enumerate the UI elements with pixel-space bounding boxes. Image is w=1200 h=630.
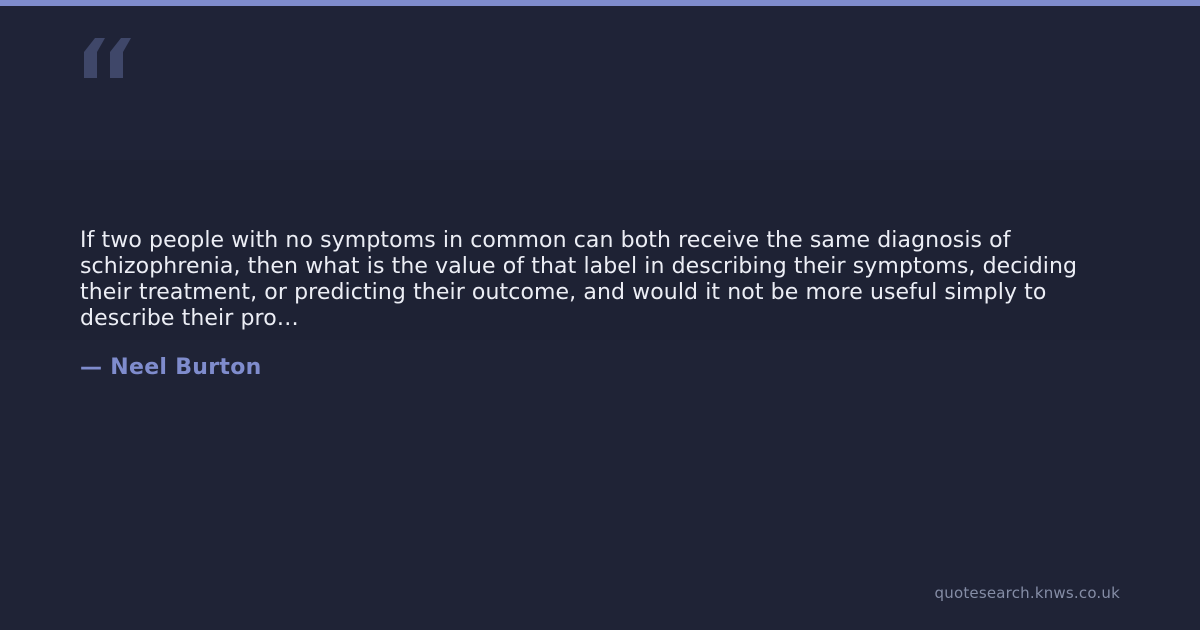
open-quote-icon [80, 38, 136, 78]
quote-text: If two people with no symptoms in common… [80, 228, 1115, 332]
quote-author: — Neel Burton [80, 354, 262, 382]
quote-card: If two people with no symptoms in common… [0, 0, 1200, 630]
top-accent-bar [0, 0, 1200, 6]
